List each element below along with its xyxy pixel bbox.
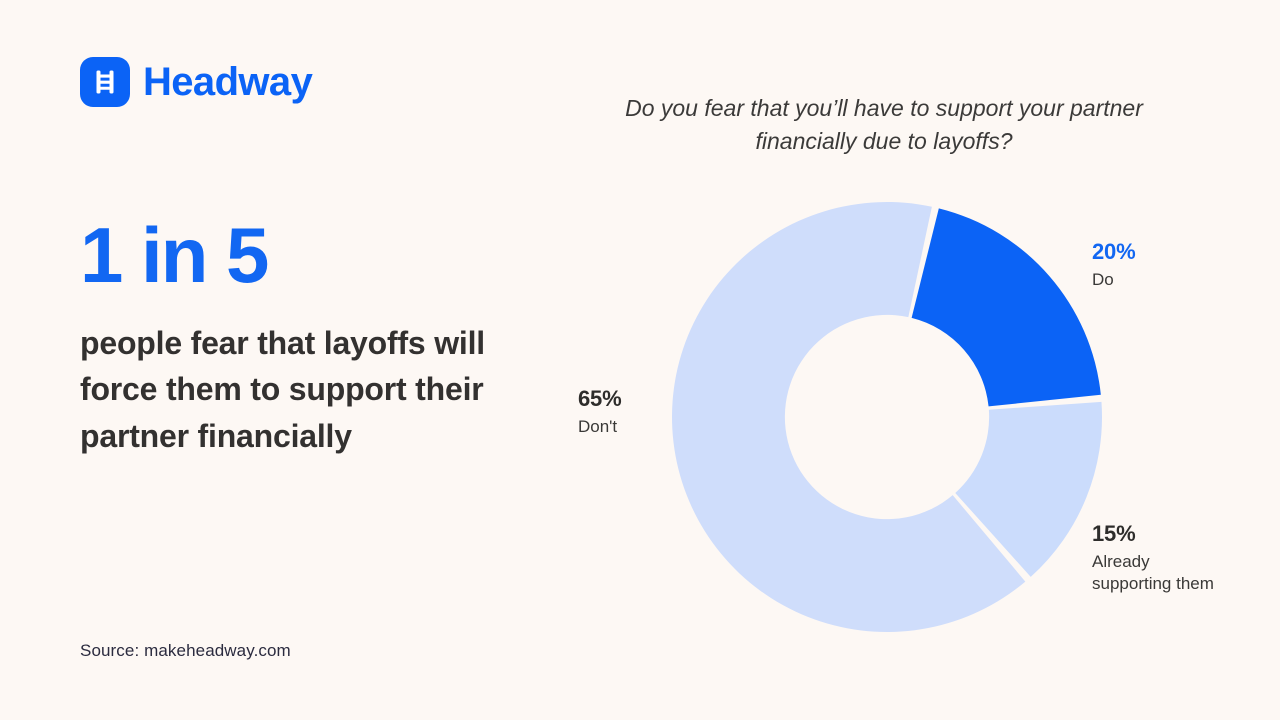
callout-already-label: Already supporting them [1092,551,1214,596]
source-credit: Source: makeheadway.com [80,641,291,661]
donut-slice-do [912,208,1101,406]
headline-description: people fear that layoffs will force them… [80,320,510,459]
infographic-canvas: Headway 1 in 5 people fear that layoffs … [0,0,1280,720]
callout-dont-label: Don't [578,416,621,438]
brand-logo: Headway [80,57,312,107]
donut-slice-group [672,202,1102,632]
brand-name: Headway [143,62,312,102]
ladder-icon [80,57,130,107]
callout-do-label: Do [1092,269,1135,291]
donut-chart [660,190,1120,650]
survey-question: Do you fear that you’ll have to support … [614,92,1154,157]
donut-chart-svg [660,190,1120,650]
headline-stat: 1 in 5 [80,216,267,294]
callout-dont: 65% Don't [578,386,621,438]
callout-already-supporting: 15% Already supporting them [1092,521,1214,596]
callout-dont-percent: 65% [578,386,621,413]
callout-do-percent: 20% [1092,239,1135,266]
callout-do: 20% Do [1092,239,1135,291]
callout-already-percent: 15% [1092,521,1214,548]
